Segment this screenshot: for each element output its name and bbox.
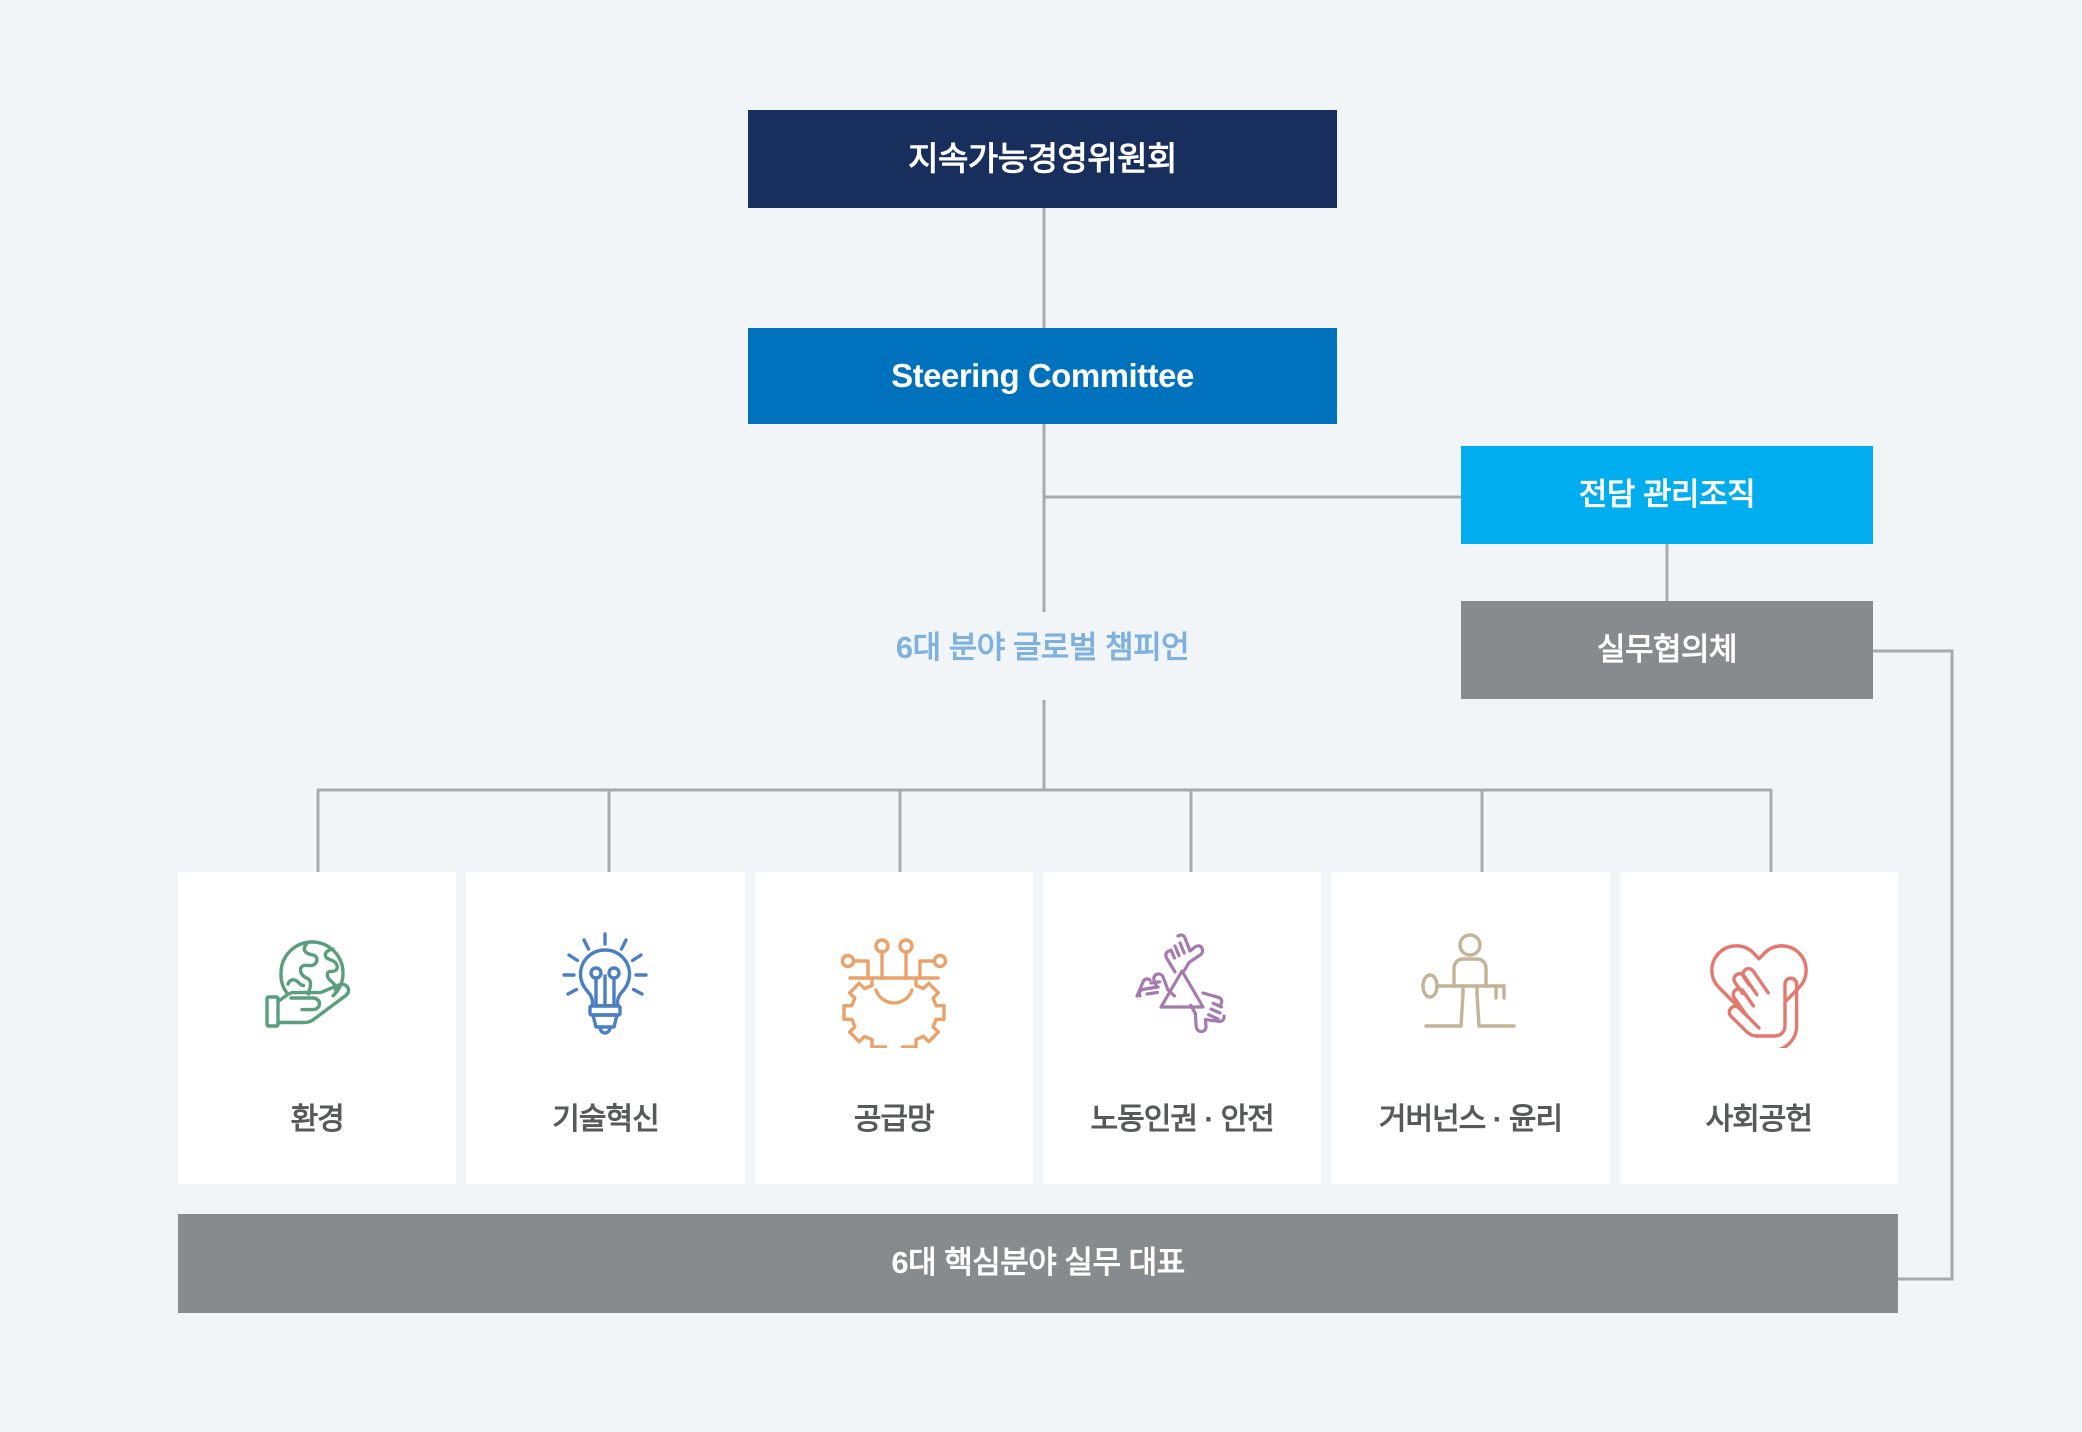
focus-area-card-supply-chain[interactable]: 공급망 <box>755 872 1033 1184</box>
node-dedicated-management-organization[interactable]: 전담 관리조직 <box>1461 446 1873 544</box>
focus-area-card-row: 환경 <box>178 872 1898 1184</box>
lightbulb-icon <box>543 924 667 1048</box>
focus-area-card-environment[interactable]: 환경 <box>178 872 456 1184</box>
focus-area-label: 환경 <box>291 1094 344 1138</box>
focus-area-label: 사회공헌 <box>1706 1094 1812 1138</box>
globe-in-hand-icon <box>255 924 379 1048</box>
focus-area-label: 기술혁신 <box>552 1094 658 1138</box>
node-working-level-council[interactable]: 실무협의체 <box>1461 601 1873 699</box>
person-with-key-icon <box>1408 924 1532 1048</box>
focus-area-card-social-contribution[interactable]: 사회공헌 <box>1620 872 1898 1184</box>
focus-area-label: 공급망 <box>854 1094 934 1138</box>
org-chart-diagram: 지속가능경영위원회 Steering Committee 전담 관리조직 실무협… <box>0 0 2082 1432</box>
node-steering-committee[interactable]: Steering Committee <box>748 328 1337 424</box>
heart-in-hand-icon <box>1697 924 1821 1048</box>
gear-circuit-icon <box>832 924 956 1048</box>
focus-area-card-labor-rights-safety[interactable]: 노동인권 · 안전 <box>1043 872 1321 1184</box>
node-sustainability-committee[interactable]: 지속가능경영위원회 <box>748 110 1337 208</box>
label-global-champion: 6대 분야 글로벌 챔피언 <box>748 622 1337 667</box>
focus-area-card-technology-innovation[interactable]: 기술혁신 <box>466 872 744 1184</box>
focus-area-label: 거버넌스 · 윤리 <box>1379 1094 1562 1138</box>
node-focus-area-working-representatives[interactable]: 6대 핵심분야 실무 대표 <box>178 1214 1898 1313</box>
three-hands-icon <box>1120 924 1244 1048</box>
focus-area-label: 노동인권 · 안전 <box>1091 1094 1274 1138</box>
focus-area-card-governance-ethics[interactable]: 거버넌스 · 윤리 <box>1331 872 1609 1184</box>
